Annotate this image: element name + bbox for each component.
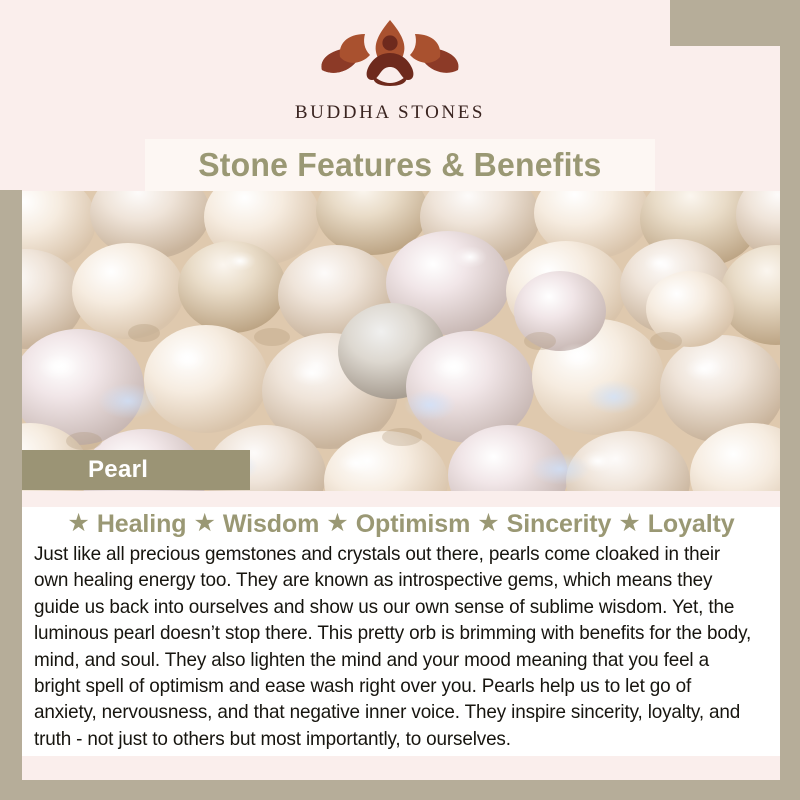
- benefit-item: ★ Sincerity: [477, 510, 611, 539]
- benefit-label: Healing: [97, 510, 187, 539]
- benefits-row: ★ Healing ★ Wisdom ★ Optimism ★ Sincerit…: [34, 510, 768, 539]
- title-banner: Stone Features & Benefits: [145, 139, 655, 191]
- lotus-meditation-figure-icon: [302, 14, 478, 96]
- benefit-item: ★ Healing: [67, 510, 186, 539]
- benefit-label: Optimism: [356, 510, 471, 539]
- card-top-fade: [22, 491, 780, 507]
- brand-logo: BUDDHA STONES: [0, 14, 780, 124]
- stone-photo: [0, 191, 800, 491]
- frame-edge-bottom: [0, 780, 800, 800]
- frame-edge-right: [780, 0, 800, 800]
- benefit-label: Loyalty: [648, 510, 735, 539]
- star-icon: ★: [477, 511, 499, 536]
- benefit-item: ★ Wisdom: [193, 510, 319, 539]
- infographic-page: BUDDHA STONES Stone Features & Benefits: [0, 0, 800, 800]
- star-icon: ★: [193, 511, 215, 536]
- benefit-label: Wisdom: [223, 510, 319, 539]
- brand-name: BUDDHA STONES: [295, 102, 485, 124]
- pearls-illustration: [0, 191, 800, 491]
- stone-name-label: Pearl: [88, 456, 148, 484]
- star-icon: ★: [326, 511, 348, 536]
- star-icon: ★: [67, 511, 89, 536]
- stone-description: Just like all precious gemstones and cry…: [34, 542, 757, 753]
- stone-name-tab: Pearl: [22, 450, 250, 490]
- content-card: ★ Healing ★ Wisdom ★ Optimism ★ Sincerit…: [22, 491, 780, 756]
- benefit-item: ★ Optimism: [326, 510, 470, 539]
- page-title: Stone Features & Benefits: [198, 146, 601, 184]
- benefit-label: Sincerity: [507, 510, 612, 539]
- benefit-item: ★ Loyalty: [618, 510, 734, 539]
- frame-edge-left: [0, 190, 22, 800]
- star-icon: ★: [618, 511, 640, 536]
